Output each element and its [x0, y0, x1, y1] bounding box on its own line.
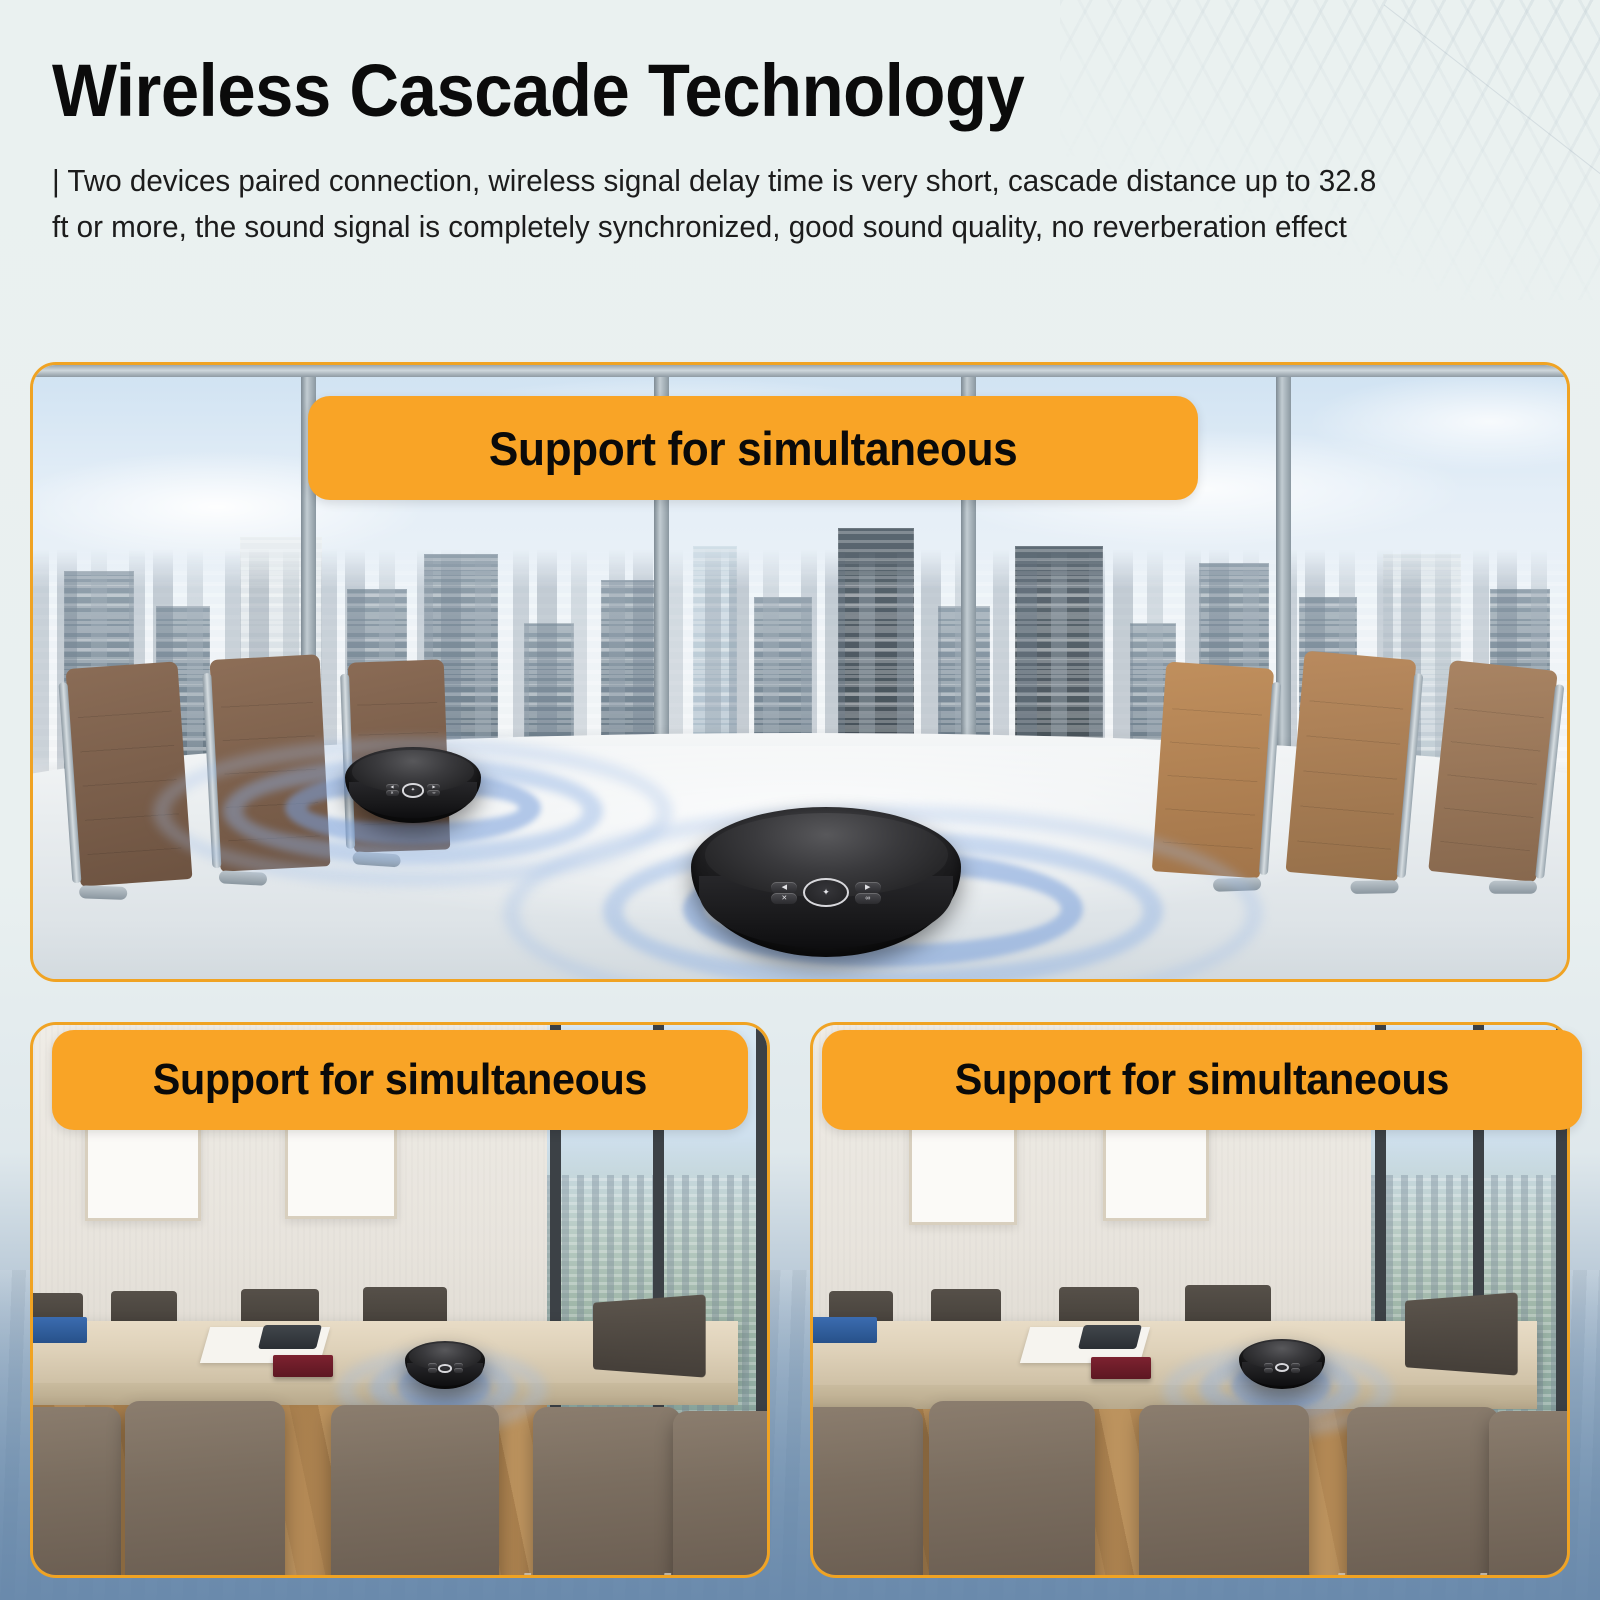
volume-up-key[interactable]: ▶ — [855, 882, 881, 893]
bluetooth-key[interactable]: ∞ — [427, 790, 440, 796]
volume-up-key[interactable] — [1291, 1363, 1300, 1368]
chair — [929, 1401, 1095, 1575]
header: Wireless Cascade Technology | Two device… — [52, 52, 1472, 250]
chair — [331, 1405, 499, 1575]
binder — [813, 1317, 877, 1343]
speakerphone-device-secondary[interactable]: ◀ ✕ ✦ ▶ ∞ — [345, 747, 481, 823]
page-subtitle: | Two devices paired connection, wireles… — [52, 158, 1383, 251]
window-frame-mullion — [756, 1025, 767, 1432]
volume-down-key[interactable] — [1264, 1363, 1273, 1368]
mute-key[interactable] — [428, 1368, 437, 1373]
tablet-device — [258, 1325, 322, 1349]
banner-label: Support for simultaneous — [955, 1055, 1449, 1105]
center-ring-button[interactable]: ✦ — [402, 783, 425, 798]
banner-bottom-right[interactable]: Support for simultaneous — [822, 1030, 1582, 1130]
center-ring-button[interactable] — [1275, 1363, 1289, 1372]
chair — [1347, 1407, 1499, 1575]
bluetooth-key[interactable] — [1291, 1368, 1300, 1373]
subtitle-bar-marker: | — [52, 158, 60, 204]
banner-label: Support for simultaneous — [489, 421, 1018, 476]
center-ring-button[interactable]: ✦ — [803, 878, 848, 907]
wall-art — [909, 1121, 1017, 1225]
binder — [33, 1317, 87, 1343]
mute-key[interactable]: ✕ — [771, 893, 797, 904]
laptop — [593, 1294, 706, 1377]
notebook — [1091, 1357, 1151, 1379]
bluetooth-key[interactable]: ∞ — [855, 893, 881, 904]
speakerphone-device[interactable] — [405, 1341, 485, 1389]
mute-key[interactable] — [1264, 1368, 1273, 1373]
wall-art — [1103, 1117, 1209, 1221]
volume-down-key[interactable]: ◀ — [771, 882, 797, 893]
laptop — [1405, 1292, 1518, 1375]
chair — [813, 1407, 923, 1575]
page-title: Wireless Cascade Technology — [52, 52, 1373, 130]
banner-bottom-left[interactable]: Support for simultaneous — [52, 1030, 748, 1130]
chair — [1428, 660, 1558, 882]
wall-art — [85, 1119, 201, 1221]
chair — [1489, 1411, 1567, 1575]
chair — [673, 1411, 767, 1575]
chair — [1286, 651, 1417, 882]
bluetooth-key[interactable] — [454, 1368, 463, 1373]
chair — [66, 661, 193, 886]
chair — [533, 1407, 681, 1575]
center-ring-button[interactable] — [438, 1364, 451, 1373]
speakerphone-device[interactable] — [1239, 1339, 1325, 1389]
mute-key[interactable]: ✕ — [386, 790, 399, 796]
chair — [33, 1407, 121, 1575]
banner-label: Support for simultaneous — [153, 1055, 647, 1105]
banner-hero[interactable]: Support for simultaneous — [308, 396, 1198, 500]
chair — [1139, 1405, 1309, 1575]
speakerphone-device-primary[interactable]: ◀ ✕ ✦ ▶ ∞ — [691, 807, 961, 957]
subtitle-text: Two devices paired connection, wireless … — [52, 164, 1376, 244]
notebook — [273, 1355, 333, 1377]
chair — [125, 1401, 285, 1575]
tablet-device — [1078, 1325, 1142, 1349]
